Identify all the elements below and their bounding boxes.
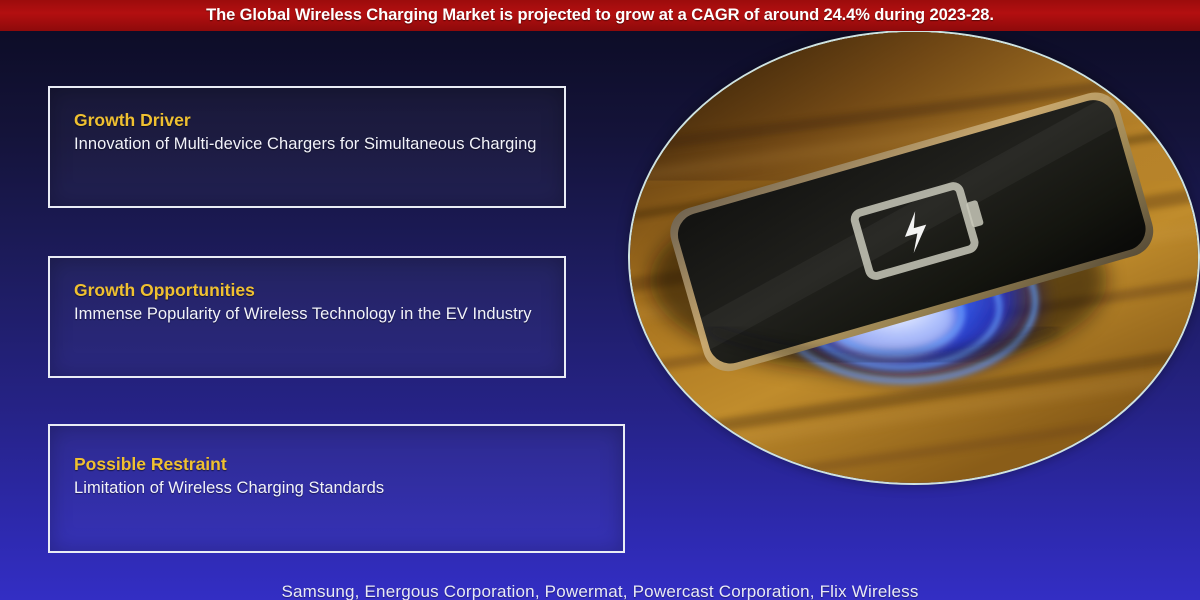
info-box-body: Limitation of Wireless Charging Standard… xyxy=(74,477,599,500)
key-companies-list: Samsung, Energous Corporation, Powermat,… xyxy=(0,581,1200,600)
info-box-content: Growth Opportunities Immense Popularity … xyxy=(50,258,564,326)
wireless-charging-photo xyxy=(628,30,1200,485)
info-box-content: Possible Restraint Limitation of Wireles… xyxy=(50,426,623,500)
info-box-growth-opportunities: Growth Opportunities Immense Popularity … xyxy=(48,256,566,378)
page-title: The Global Wireless Charging Market is p… xyxy=(206,6,994,25)
info-box-heading: Growth Driver xyxy=(74,110,540,131)
info-box-heading: Growth Opportunities xyxy=(74,280,540,301)
wireless-charging-illustration xyxy=(630,32,1198,483)
info-box-growth-driver: Growth Driver Innovation of Multi-device… xyxy=(48,86,566,208)
info-box-content: Growth Driver Innovation of Multi-device… xyxy=(50,88,564,156)
info-box-body: Innovation of Multi-device Chargers for … xyxy=(74,133,540,156)
infographic-canvas: The Global Wireless Charging Market is p… xyxy=(0,0,1200,600)
header-banner: The Global Wireless Charging Market is p… xyxy=(0,0,1200,31)
info-box-possible-restraint: Possible Restraint Limitation of Wireles… xyxy=(48,424,625,553)
info-box-body: Immense Popularity of Wireless Technolog… xyxy=(74,303,540,326)
info-box-heading: Possible Restraint xyxy=(74,454,599,475)
